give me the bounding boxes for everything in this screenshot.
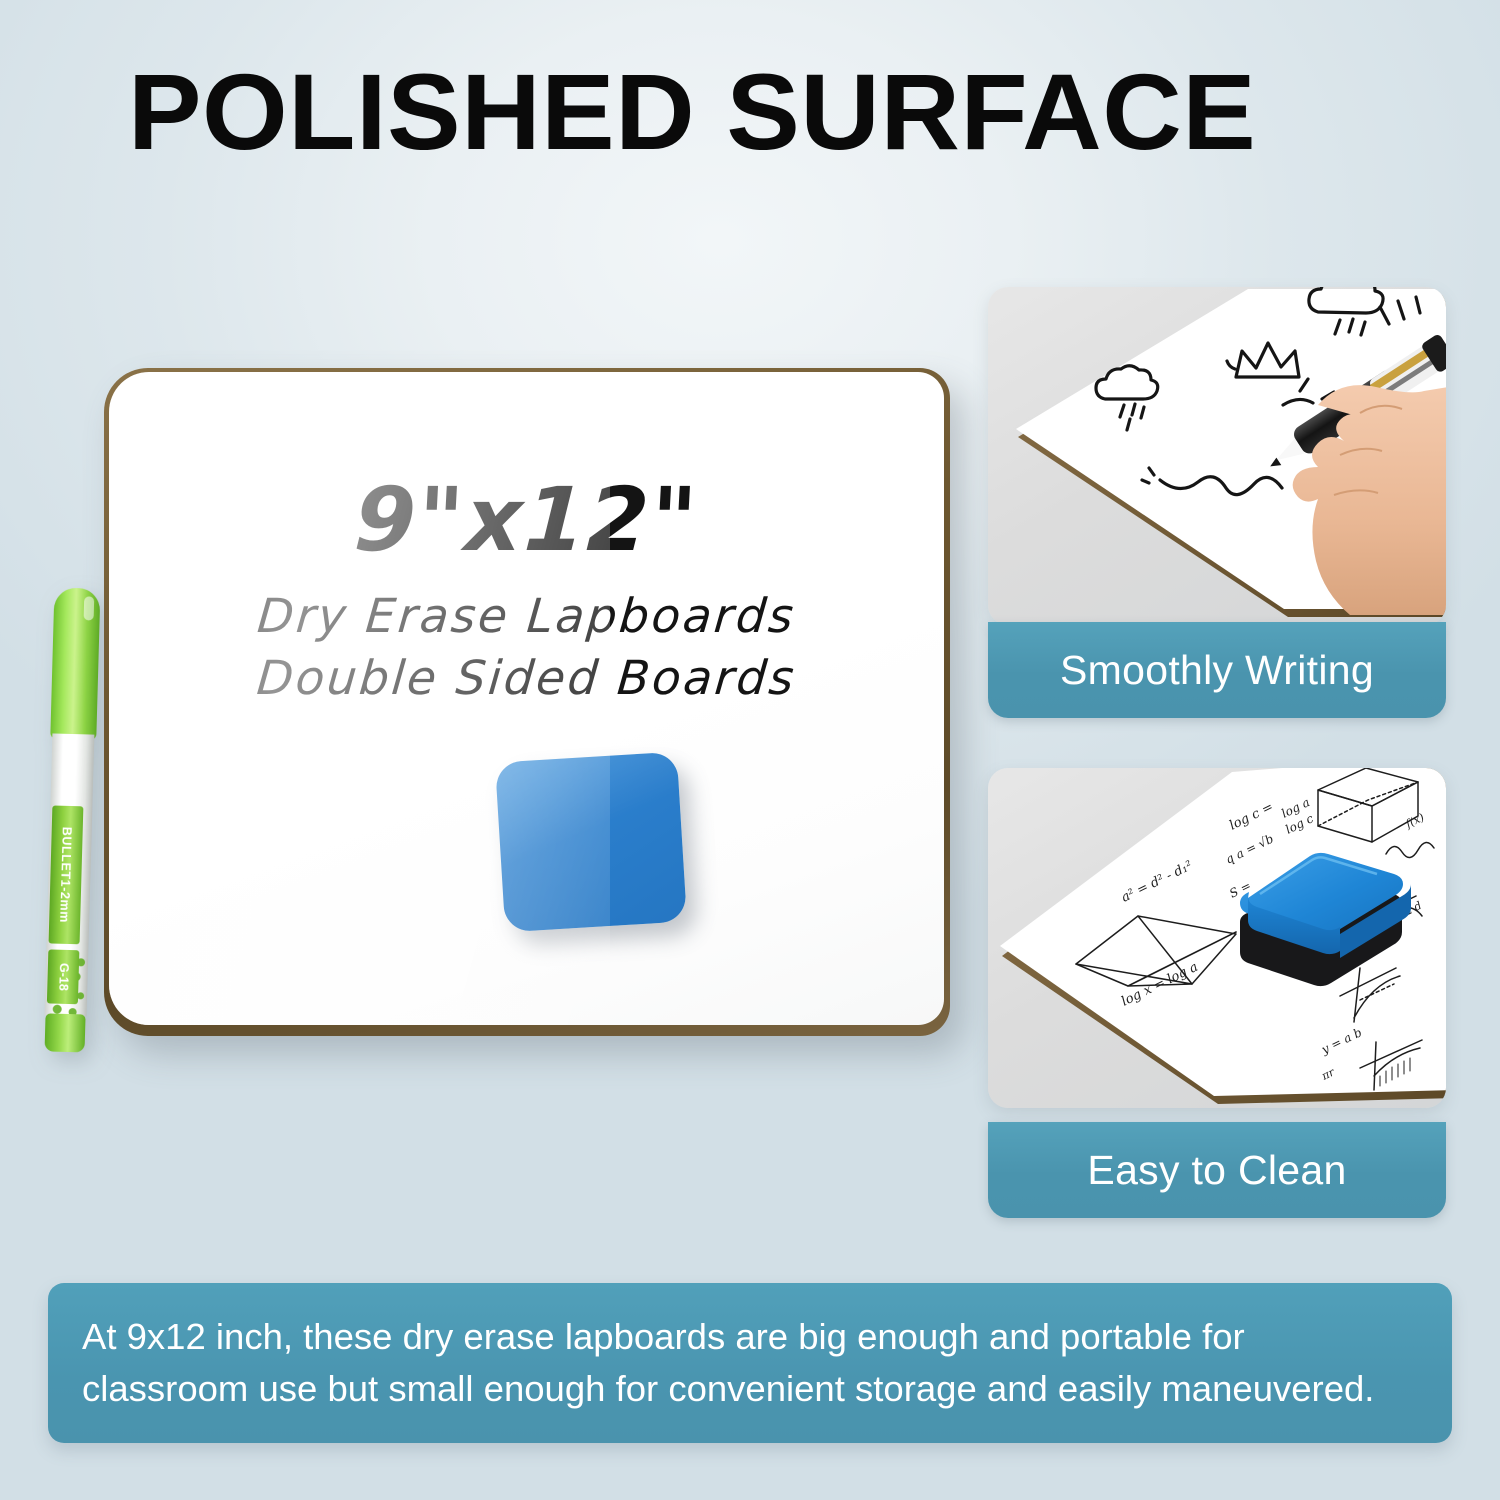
hand-writing-illustration xyxy=(988,287,1446,625)
whiteboard-text-block: 9"x12" Dry Erase Lapboards Double Sided … xyxy=(109,476,944,710)
feature-caption-smoothly-writing: Smoothly Writing xyxy=(988,622,1446,718)
feature-caption-easy-to-clean: Easy to Clean xyxy=(988,1122,1446,1218)
feature-panel-smoothly-writing xyxy=(988,287,1446,625)
whiteboard-surface: 9"x12" Dry Erase Lapboards Double Sided … xyxy=(109,372,944,1025)
feature-panel-easy-to-clean: log c = log a log c q a = √b S = a² = d²… xyxy=(988,768,1446,1108)
feature-caption-text-1: Smoothly Writing xyxy=(1060,647,1374,694)
description-banner: At 9x12 inch, these dry erase lapboards … xyxy=(48,1283,1452,1443)
green-marker-pen: BULLET1-2mm G-18 xyxy=(40,587,103,1052)
marker-cap-icon xyxy=(50,587,100,740)
blue-eraser xyxy=(495,752,687,933)
main-whiteboard: 9"x12" Dry Erase Lapboards Double Sided … xyxy=(104,368,950,1036)
marker-tip-label-text: BULLET1-2mm xyxy=(58,827,75,924)
marker-code-label: G-18 xyxy=(47,949,79,1004)
whiteboard-size-label: 9"x12" xyxy=(109,476,944,564)
eraser-on-formulas-illustration: log c = log a log c q a = √b S = a² = d²… xyxy=(988,768,1446,1108)
whiteboard-line-1: Dry Erase Lapboards xyxy=(109,586,944,648)
whiteboard-line-2: Double Sided Boards xyxy=(109,648,944,710)
marker-code-label-text: G-18 xyxy=(56,963,71,991)
marker-tip-label: BULLET1-2mm xyxy=(49,805,84,944)
product-infographic: POLISHED SURFACE BULLET1-2mm G-18 xyxy=(0,0,1500,1500)
feature-caption-text-2: Easy to Clean xyxy=(1087,1147,1346,1194)
page-title: POLISHED SURFACE xyxy=(128,58,1256,166)
marker-end-cap xyxy=(45,1013,86,1052)
